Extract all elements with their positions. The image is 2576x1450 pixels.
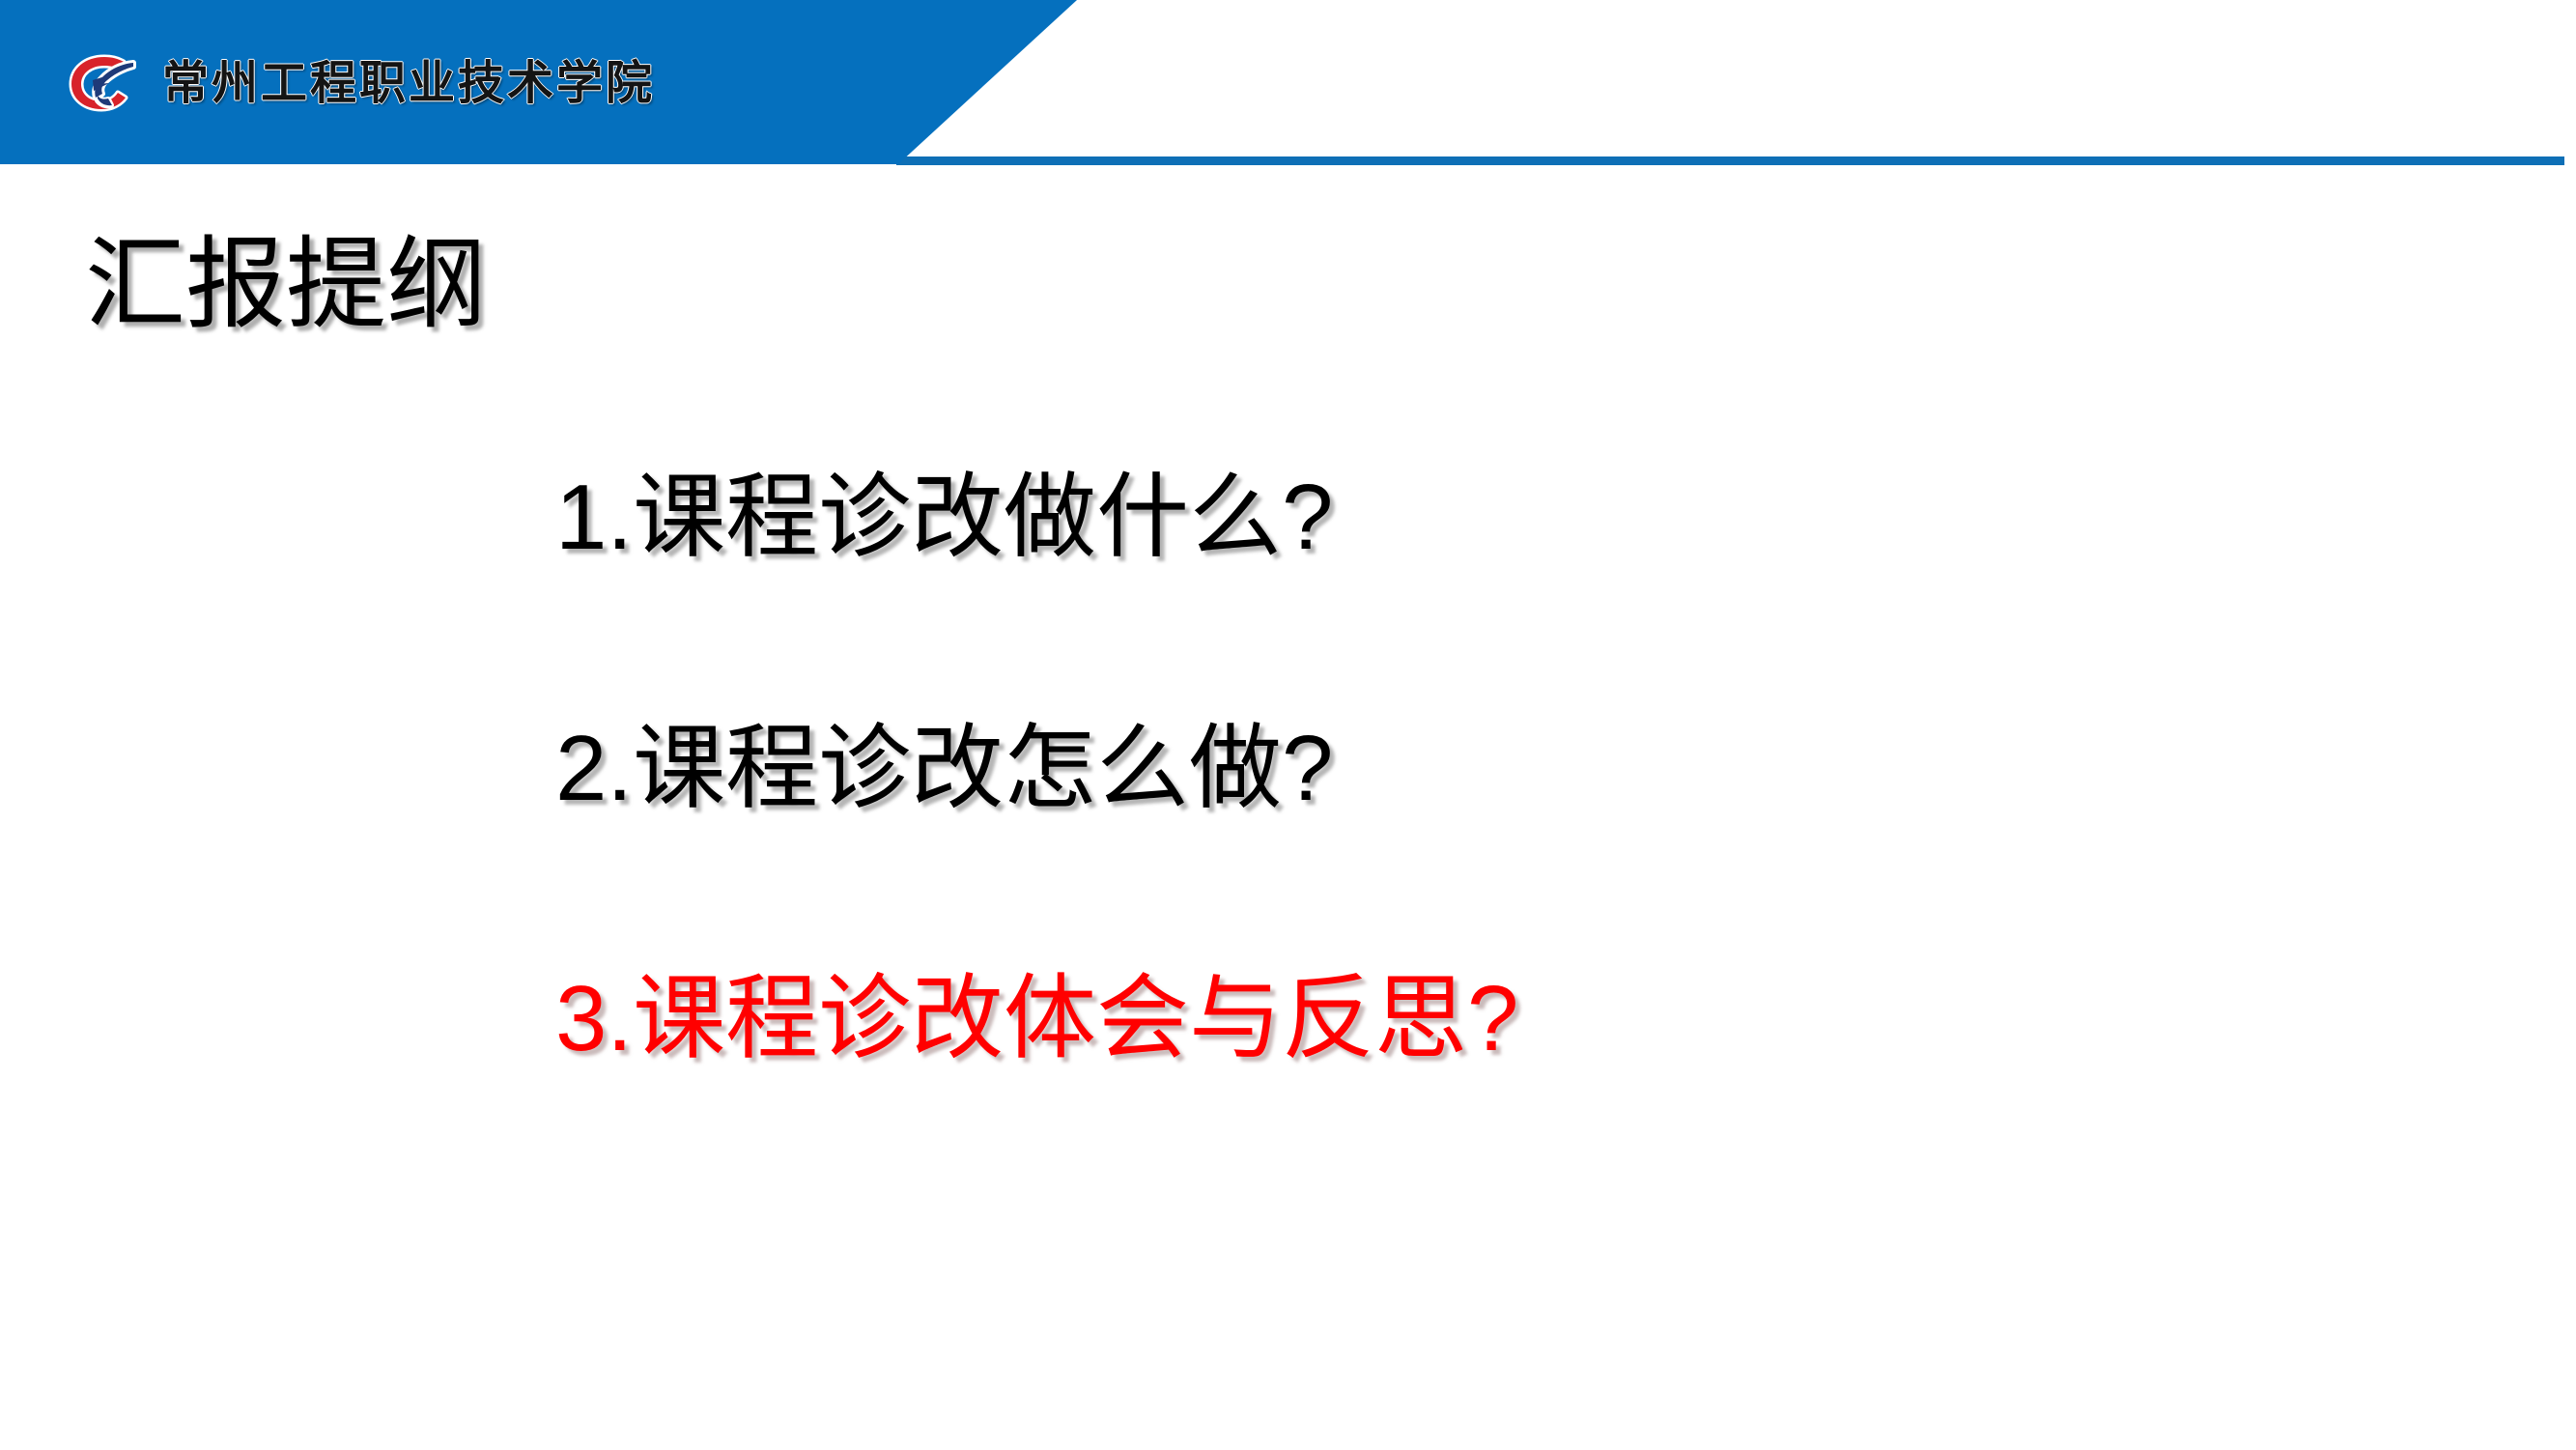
presentation-slide: 常州工程职业技术学院 汇报提纲 1.课程诊改做什么? 2.课程诊改怎么做? 3.… [0, 0, 2576, 1450]
changzhou-institute-emblem-icon [66, 54, 137, 112]
header-divider-rule [896, 156, 2564, 165]
institution-wordmark: 常州工程职业技术学院 [162, 60, 655, 106]
page-title: 汇报提纲 [85, 230, 487, 340]
outline-item-1: 1.课程诊改做什么? [555, 466, 2391, 570]
institution-logo: 常州工程职业技术学院 [66, 54, 655, 112]
outline-list: 1.课程诊改做什么? 2.课程诊改怎么做? 3.课程诊改体会与反思? [555, 466, 2391, 1071]
outline-item-3: 3.课程诊改体会与反思? [555, 967, 2391, 1071]
outline-item-2: 2.课程诊改怎么做? [555, 717, 2391, 821]
